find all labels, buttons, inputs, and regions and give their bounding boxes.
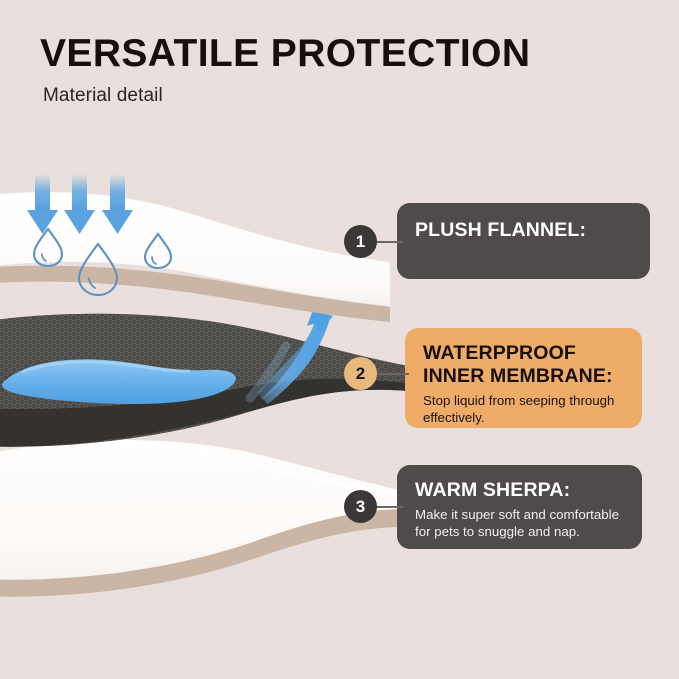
connector-line-2 xyxy=(375,373,409,375)
callout-2-title: WATERPPROOF INNER MEMBRANE: xyxy=(423,342,624,388)
connector-line-3 xyxy=(375,506,403,508)
callout-1-title: PLUSH FLANNEL: xyxy=(415,219,632,242)
callout-waterproof-membrane[interactable]: WATERPPROOF INNER MEMBRANE: Stop liquid … xyxy=(405,328,642,428)
infographic-canvas: VERSATILE PROTECTION Material detail xyxy=(0,0,679,679)
callout-2-title-line2: INNER MEMBRANE: xyxy=(423,365,613,387)
waterproof-membrane-layer xyxy=(0,300,450,470)
header: VERSATILE PROTECTION Material detail xyxy=(40,34,530,107)
callout-2-title-line1: WATERPPROOF xyxy=(423,342,576,364)
callout-plush-flannel[interactable]: PLUSH FLANNEL: xyxy=(397,203,650,279)
page-subtitle: Material detail xyxy=(43,85,530,107)
plush-flannel-layer xyxy=(0,192,390,322)
callout-3-body: Make it super soft and comfortable for p… xyxy=(415,507,624,541)
callout-3-title: WARM SHERPA: xyxy=(415,479,624,502)
callout-warm-sherpa[interactable]: WARM SHERPA: Make it super soft and comf… xyxy=(397,465,642,549)
page-title: VERSATILE PROTECTION xyxy=(40,34,530,75)
connector-line-1 xyxy=(375,241,403,243)
badge-3[interactable]: 3 xyxy=(344,490,377,523)
callout-2-body: Stop liquid from seeping through effecti… xyxy=(423,393,624,427)
water-impact-arrows xyxy=(27,174,133,234)
badge-1[interactable]: 1 xyxy=(344,225,377,258)
badge-2[interactable]: 2 xyxy=(344,357,377,390)
